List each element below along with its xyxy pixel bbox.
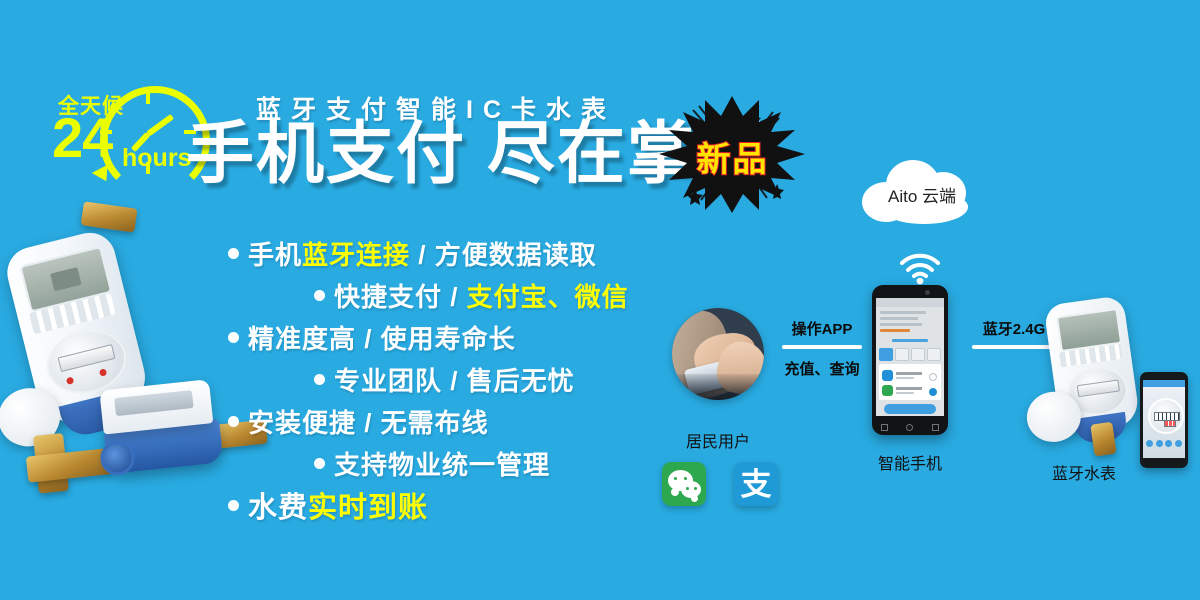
phone-screen (876, 298, 944, 416)
wechat-bubble-small (681, 481, 701, 498)
list-item: 手机蓝牙连接 / 方便数据读取 (228, 232, 698, 274)
confirm-payment-button (884, 404, 936, 414)
payment-method-card (879, 364, 941, 400)
badge-unit: hours (122, 146, 191, 171)
alipay-icon (882, 370, 893, 381)
clock-tick-top (146, 92, 150, 104)
radio-icon (929, 373, 937, 381)
meter-red-pointer-2 (99, 368, 107, 376)
brass-pipe (1090, 422, 1116, 457)
back-icon (881, 424, 888, 431)
payment-option-wechat (882, 385, 938, 398)
app-titlebar (1143, 380, 1185, 387)
cloud-node: Aito 云端 (862, 158, 982, 224)
amount-chip-group (879, 348, 941, 359)
phone-screen (1143, 380, 1185, 458)
bluetooth-water-meter-photo (1043, 295, 1140, 435)
option-subtitle (896, 377, 914, 379)
feature-highlight: 支付宝、微信 (467, 282, 629, 312)
android-navbar (872, 422, 948, 433)
amount-chip (879, 348, 893, 361)
bullet-dot (228, 500, 239, 511)
bullet-dot (314, 290, 325, 301)
bullet-dot (228, 332, 239, 343)
feature-suffix: / 方便数据读取 (410, 240, 597, 270)
feature-text: 快捷支付 / (334, 282, 467, 312)
node-caption-resident: 居民用户 (672, 428, 764, 452)
wechat-icon (882, 385, 893, 396)
bullet-dot (228, 416, 239, 427)
alipay-icon: 支 (734, 462, 778, 506)
option-title (896, 372, 922, 375)
smartphone-mockup (872, 285, 948, 435)
app-info-line (880, 317, 918, 320)
app-link (892, 339, 928, 342)
front-camera-icon (925, 290, 930, 295)
wechat-eye (684, 477, 687, 480)
connector-label-recharge-query: 充值、查询 (776, 358, 868, 379)
app-balance-line (880, 329, 910, 332)
home-icon (906, 424, 913, 431)
meter-label-slot (114, 390, 193, 416)
list-item: 安装便捷 / 无需布线 (228, 400, 698, 442)
option-subtitle (896, 392, 914, 394)
app-icon (1146, 440, 1153, 447)
feature-text: 水费 (248, 492, 308, 524)
cloud-label: Aito 云端 (862, 182, 982, 207)
app-info-line (880, 311, 926, 314)
feature-highlight: 蓝牙连接 (302, 240, 410, 270)
feature-list: 手机蓝牙连接 / 方便数据读取 快捷支付 / 支付宝、微信 精准度高 / 使用寿… (228, 232, 698, 526)
meter-register (58, 344, 116, 372)
app-icon-row (1146, 440, 1182, 450)
meter-reading-gauge (1148, 398, 1184, 434)
app-icon (1165, 440, 1172, 447)
amount-chip (895, 348, 909, 361)
resident-user-photo (672, 308, 764, 400)
photo-vignette (672, 374, 764, 400)
valve-control-water-meter-photo (81, 376, 250, 488)
app-icon (1156, 440, 1163, 447)
wechat-pay-icon (662, 462, 706, 506)
list-item: 支持物业统一管理 (228, 442, 698, 484)
bullet-dot (228, 248, 239, 259)
meter-red-pointer-1 (66, 377, 74, 385)
node-caption-smartphone: 智能手机 (862, 450, 958, 474)
feature-text: 专业团队 / 售后无忧 (334, 366, 575, 396)
node-caption-water-meter: 蓝牙水表 (1036, 460, 1132, 484)
feature-text: 手机 (248, 240, 302, 270)
list-item: 专业团队 / 售后无忧 (228, 358, 698, 400)
new-product-label: 新品 (655, 132, 810, 181)
reading-digits-red (1164, 420, 1176, 427)
option-title (896, 387, 922, 390)
feature-highlight: 实时到账 (308, 492, 428, 524)
app-icon (1175, 440, 1182, 447)
app-info-line (880, 323, 922, 326)
meter-reading-phone (1140, 372, 1188, 468)
badge-number: 24 (52, 110, 112, 166)
meter-register (1077, 379, 1120, 397)
promo-banner: 全天候 24 hours 蓝牙支付智能IC卡水表 手机支付 尽在掌握 新品 (0, 0, 1200, 600)
wechat-eye (686, 487, 689, 490)
list-item: 快捷支付 / 支付宝、微信 (228, 274, 698, 316)
list-item: 精准度高 / 使用寿命长 (228, 316, 698, 358)
connector-line-2 (972, 345, 1056, 349)
app-header (876, 298, 944, 307)
amount-chip (927, 348, 941, 361)
radio-icon (929, 388, 937, 396)
new-product-badge: 新品 (655, 92, 810, 217)
connector-label-operate-app: 操作APP (780, 318, 864, 339)
payment-option-alipay (882, 370, 938, 383)
bullet-dot (314, 458, 325, 469)
wechat-eye (674, 477, 677, 480)
feature-text: 精准度高 / 使用寿命长 (248, 324, 516, 354)
amount-chip (911, 348, 925, 361)
alipay-glyph: 支 (734, 462, 778, 506)
wechat-eye (694, 487, 697, 490)
list-item: 水费实时到账 (228, 484, 698, 526)
feature-text: 安装便捷 / 无需布线 (248, 408, 489, 438)
wifi-icon (896, 250, 944, 286)
bullet-dot (314, 374, 325, 385)
feature-text: 支持物业统一管理 (334, 450, 550, 480)
connector-line-1 (782, 345, 862, 349)
brass-pipe-top (81, 201, 138, 232)
recents-icon (932, 424, 939, 431)
